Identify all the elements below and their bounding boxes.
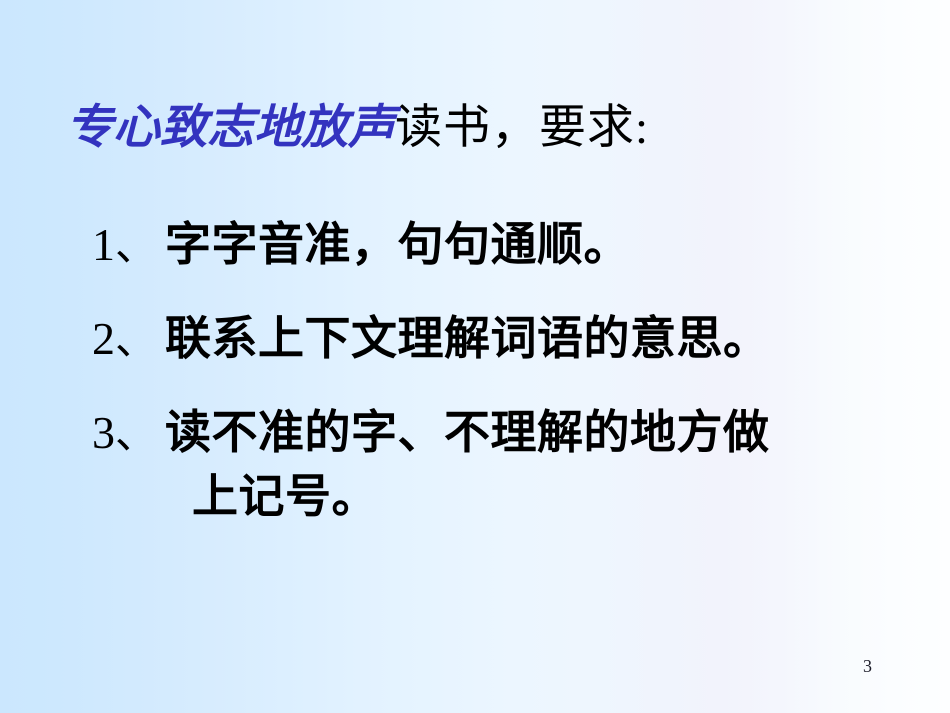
list-item-text: 联系上下文理解词语的意思。 [165,313,770,364]
list-item: 1、字字音准，句句通顺。 [92,214,922,278]
list-item-wrapped-text: 上记号。 [92,466,922,528]
list-item-separator: 、 [115,318,165,364]
title-rest-text: 读书，要求: [395,102,649,154]
list-item-number: 3 [92,407,115,458]
list-item-text: 字字音准，句句通顺。 [165,219,630,270]
page-number: 3 [863,657,872,675]
list-item-text: 读不准的字、不理解的地方做 [165,407,770,458]
list-item: 3、读不准的字、不理解的地方做 上记号。 [92,402,922,528]
presentation-slide: 专心致志地放声读书，要求: 1、字字音准，句句通顺。 2、联系上下文理解词语的意… [0,0,950,713]
instruction-list: 1、字字音准，句句通顺。 2、联系上下文理解词语的意思。 3、读不准的字、不理解… [92,214,922,528]
list-item-separator: 、 [115,224,165,270]
list-item-separator: 、 [115,412,165,458]
slide-title: 专心致志地放声读书，要求: [66,104,886,152]
title-accent-text: 专心致志地放声 [66,100,395,155]
list-item-number: 1 [92,219,115,270]
list-item-number: 2 [92,313,115,364]
list-item: 2、联系上下文理解词语的意思。 [92,308,922,372]
